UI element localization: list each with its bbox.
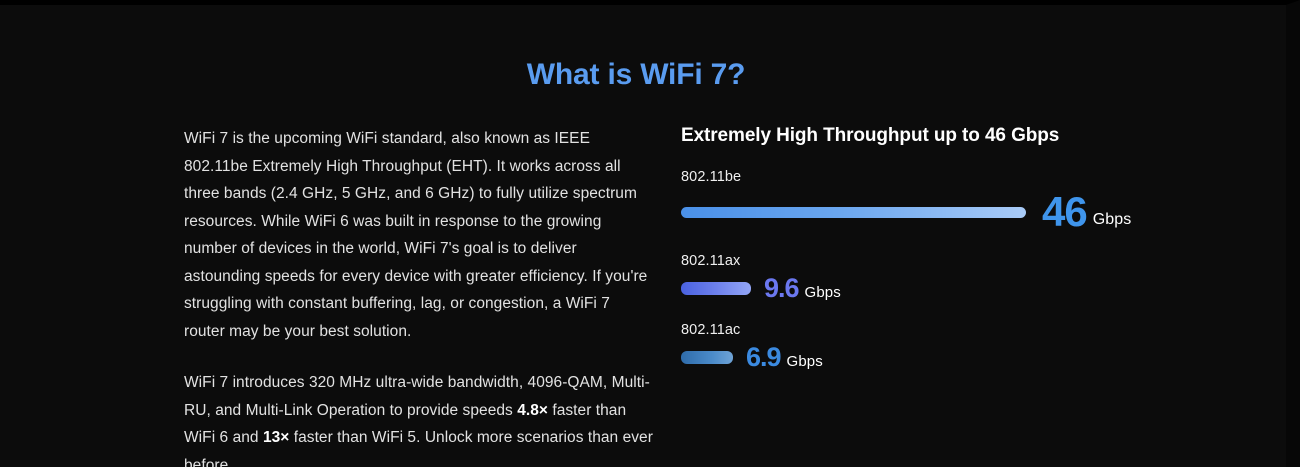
bar-number-802-11ax: 9.6 [764,275,799,302]
bar-number-802-11be: 46 [1042,191,1087,233]
bar-unit-802-11ac: Gbps [787,353,823,370]
chart-title: Extremely High Throughput up to 46 Gbps [681,125,1171,147]
highlight-speed-vs-wifi5: 13× [263,429,289,446]
paragraph-overview: WiFi 7 is the upcoming WiFi standard, al… [184,125,654,345]
bar-line-802-11ax: 9.6 Gbps [681,275,1171,302]
bar-line-802-11be: 46 Gbps [681,191,1171,233]
bar-row-802-11ac: 802.11ac 6.9 Gbps [681,322,1171,371]
bar-unit-802-11ax: Gbps [805,284,841,301]
bar-value-802-11be: 46 Gbps [1042,191,1131,233]
bar-fill-802-11ac [681,351,733,364]
bar-line-802-11ac: 6.9 Gbps [681,344,1171,371]
wifi7-info-panel: What is WiFi 7? WiFi 7 is the upcoming W… [0,0,1300,467]
bar-label-802-11ac: 802.11ac [681,322,1171,338]
bar-unit-802-11be: Gbps [1093,211,1132,229]
bar-number-802-11ac: 6.9 [746,344,781,371]
bar-value-802-11ax: 9.6 Gbps [764,275,841,302]
bar-row-802-11be: 802.11be 46 Gbps [681,169,1171,233]
paragraph-features: WiFi 7 introduces 320 MHz ultra-wide ban… [184,369,654,467]
highlight-speed-vs-wifi6: 4.8× [517,402,548,419]
bar-value-802-11ac: 6.9 Gbps [746,344,823,371]
bar-row-802-11ax: 802.11ax 9.6 Gbps [681,253,1171,302]
paragraph-overview-text: WiFi 7 is the upcoming WiFi standard, al… [184,130,647,340]
article-body: WiFi 7 is the upcoming WiFi standard, al… [184,125,654,467]
throughput-chart: Extremely High Throughput up to 46 Gbps … [681,125,1171,371]
bar-fill-802-11ax [681,282,751,295]
bar-label-802-11be: 802.11be [681,169,1171,185]
bar-fill-802-11be [681,207,1026,218]
page-title: What is WiFi 7? [0,58,1272,92]
bar-label-802-11ax: 802.11ax [681,253,1171,269]
